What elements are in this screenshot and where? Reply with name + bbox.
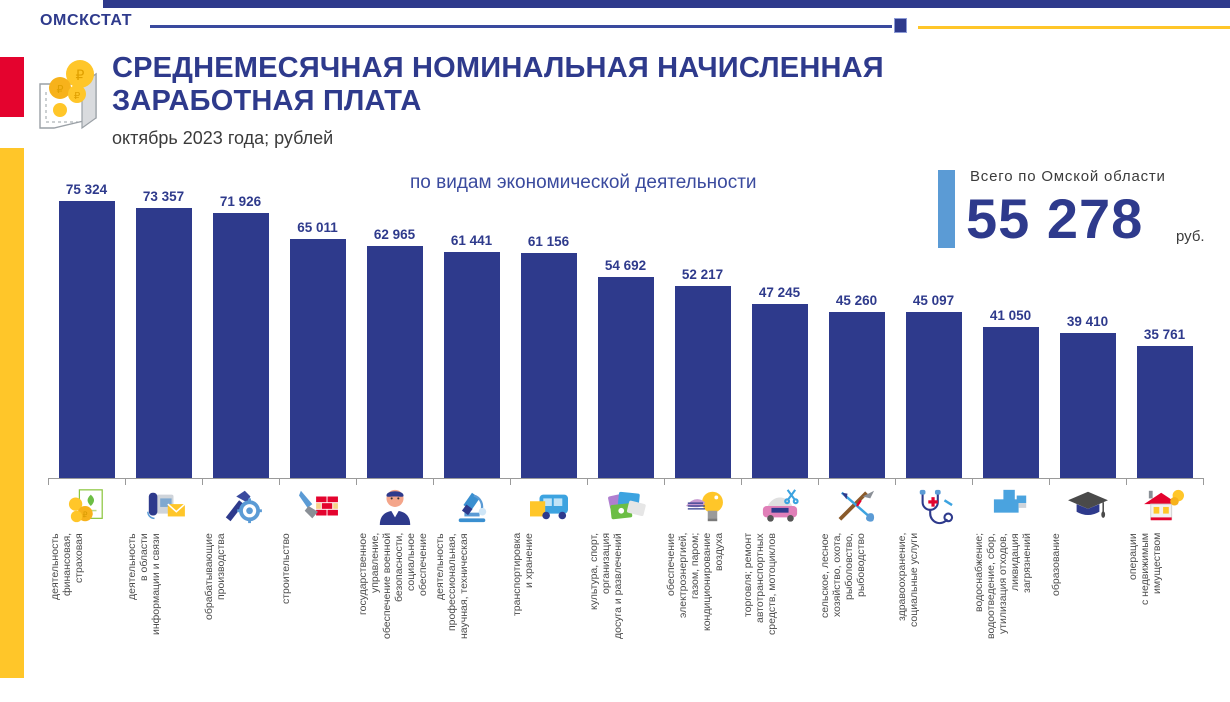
water-pipe-icon — [973, 483, 1049, 529]
bar-value-label: 47 245 — [740, 285, 820, 300]
bar — [752, 304, 808, 478]
car-repair-icon — [742, 483, 818, 529]
category-label: государственное управление, обеспечение … — [357, 533, 433, 701]
bar — [906, 312, 962, 478]
header-rule-square — [894, 18, 907, 33]
category-label: деятельность профессиональная, научная, … — [434, 533, 510, 701]
bar-value-label: 73 357 — [124, 189, 204, 204]
chart-axis-line — [48, 478, 1203, 479]
svg-text:₽: ₽ — [57, 83, 64, 96]
bar-value-label: 75 324 — [47, 182, 127, 197]
hammer-gear-icon — [203, 483, 279, 529]
finance-document-icon: ₽ — [49, 483, 125, 529]
brand-logo: ОМСКСТАТ — [40, 12, 132, 30]
bar-chart: 75 32473 35771 92665 01162 96561 44161 1… — [0, 160, 1230, 478]
category-label: сельское, лесное хозяйство, охота, рыбол… — [819, 533, 895, 701]
microscope-icon — [434, 483, 510, 529]
category-label: операции с недвижимым имуществом — [1127, 533, 1203, 701]
svg-text:₽: ₽ — [76, 68, 85, 84]
bar — [290, 239, 346, 478]
category-column: государственное управление, обеспечение … — [357, 483, 433, 702]
category-label: транспортировка и хранение — [511, 533, 587, 701]
category-label: образование — [1050, 533, 1126, 701]
header-rule-yellow — [918, 26, 1230, 29]
bar-value-label: 62 965 — [355, 227, 435, 242]
bar — [1060, 333, 1116, 478]
bar-value-label: 52 217 — [663, 267, 743, 282]
official-person-icon — [357, 483, 433, 529]
bar — [1137, 346, 1193, 478]
house-coins-icon — [1127, 483, 1203, 529]
fishing-hunting-icon — [819, 483, 895, 529]
bar — [521, 253, 577, 478]
category-column: деятельность в области информации и связ… — [126, 483, 202, 702]
category-column: деятельность профессиональная, научная, … — [434, 483, 510, 702]
header-rule-blue — [150, 25, 892, 28]
top-blue-bar — [103, 0, 1230, 8]
category-column: строительство — [280, 483, 356, 702]
bar — [983, 327, 1039, 478]
bar-value-label: 71 926 — [201, 194, 281, 209]
category-label: культура, спорт, организация досуга и ра… — [588, 533, 664, 701]
stethoscope-icon — [896, 483, 972, 529]
bar — [829, 312, 885, 478]
bar-value-label: 45 260 — [817, 293, 897, 308]
bar-value-label: 65 011 — [278, 220, 358, 235]
edge-accent-red — [0, 57, 24, 117]
category-label: обеспечение электроэнергией, газом, паро… — [665, 533, 741, 701]
bar-value-label: 39 410 — [1048, 314, 1128, 329]
category-column: культура, спорт, организация досуга и ра… — [588, 483, 664, 702]
bar-value-label: 61 441 — [432, 233, 512, 248]
category-column: образование — [1050, 483, 1126, 702]
category-column: обеспечение электроэнергией, газом, паро… — [665, 483, 741, 702]
category-column: обрабатывающие производства — [203, 483, 279, 702]
bar — [444, 252, 500, 478]
page-title: СРЕДНЕМЕСЯЧНАЯ НОМИНАЛЬНАЯ НАЧИСЛЕННАЯ З… — [112, 52, 1012, 118]
bar — [136, 208, 192, 478]
category-label: здравоохранение, социальные услуги — [896, 533, 972, 701]
category-column: транспортировка и хранение — [511, 483, 587, 702]
page-subtitle: октябрь 2023 года; рублей — [112, 128, 333, 149]
graduation-cap-icon — [1050, 483, 1126, 529]
category-column: ₽деятельность финансовая, страховая — [49, 483, 125, 702]
svg-text:₽: ₽ — [82, 510, 87, 519]
lightbulb-energy-icon — [665, 483, 741, 529]
category-column: водоснабжение; водоотведение, сбор, утил… — [973, 483, 1049, 702]
svg-text:₽: ₽ — [74, 91, 81, 102]
bar — [598, 277, 654, 478]
bar-value-label: 41 050 — [971, 308, 1051, 323]
category-column: здравоохранение, социальные услуги — [896, 483, 972, 702]
category-label: деятельность в области информации и связ… — [126, 533, 202, 701]
bar — [675, 286, 731, 478]
telephone-mail-icon — [126, 483, 202, 529]
bar-value-label: 54 692 — [586, 258, 666, 273]
bar — [213, 213, 269, 478]
bus-cargo-icon — [511, 483, 587, 529]
bar-value-label: 35 761 — [1125, 327, 1205, 342]
trowel-bricks-icon — [280, 483, 356, 529]
money-box-icon: ₽ ₽ ₽ — [30, 52, 106, 136]
category-column: сельское, лесное хозяйство, охота, рыбол… — [819, 483, 895, 702]
category-label: торговля; ремонт автотранспортных средст… — [742, 533, 818, 701]
category-label: обрабатывающие производства — [203, 533, 279, 701]
category-column: торговля; ремонт автотранспортных средст… — [742, 483, 818, 702]
category-label: деятельность финансовая, страховая — [49, 533, 125, 701]
bar-value-label: 61 156 — [509, 234, 589, 249]
category-column: операции с недвижимым имуществом — [1127, 483, 1203, 702]
bar — [367, 246, 423, 478]
bar — [59, 201, 115, 478]
category-label: водоснабжение; водоотведение, сбор, утил… — [973, 533, 1049, 701]
category-label: строительство — [280, 533, 356, 701]
category-labels: ₽деятельность финансовая, страховаядеяте… — [0, 483, 1230, 702]
tickets-icon — [588, 483, 664, 529]
bar-value-label: 45 097 — [894, 293, 974, 308]
